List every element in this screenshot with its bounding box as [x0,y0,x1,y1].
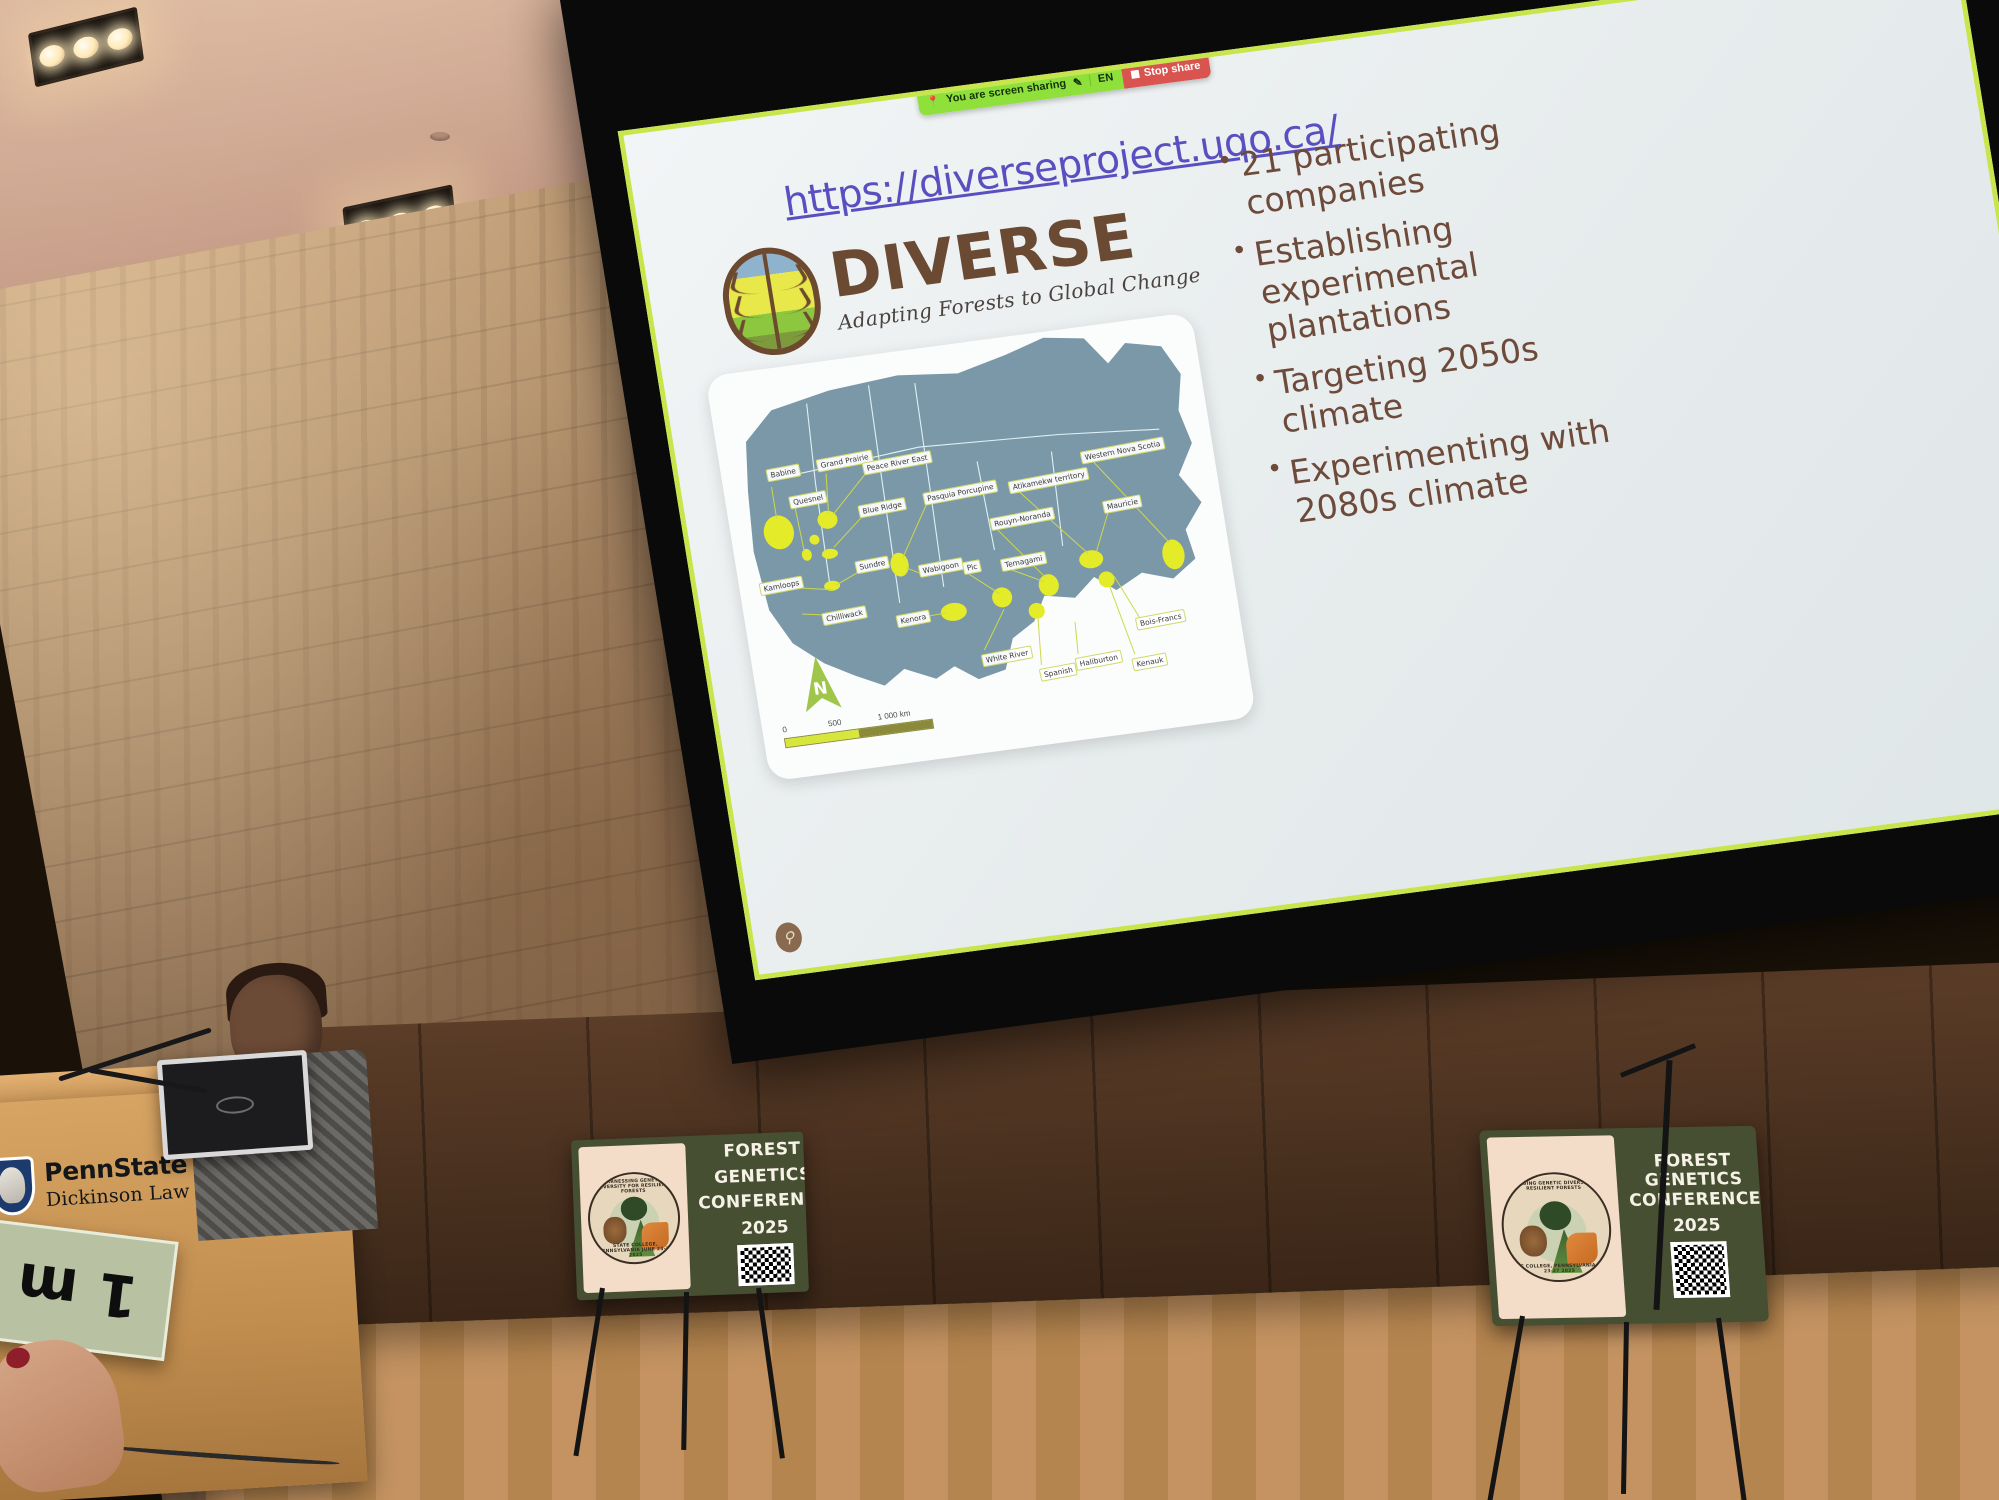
qr-code-icon[interactable] [1670,1242,1730,1299]
stop-share-label: Stop share [1143,60,1201,79]
conference-sign-right: HARNESSING GENETIC DIVERSITY FOR RESILIE… [1479,1126,1769,1326]
language-indicator[interactable]: EN [1088,71,1114,86]
qr-code-icon[interactable] [738,1243,796,1286]
conference-emblem-icon: HARNESSING GENETIC DIVERSITY FOR RESILIE… [1498,1172,1615,1283]
projected-slide-area: 📍 You are screen sharing ✎ EN Stop share… [618,0,1999,980]
dell-logo-icon [215,1095,254,1115]
time-warning-card: 1 m [0,1219,179,1361]
slide-bullet-list: 21 participating companiesEstablishing e… [1213,94,1694,548]
pencil-icon[interactable]: ✎ [1072,75,1083,89]
share-status-text: You are screen sharing [945,78,1067,106]
conference-title-line-1: FOREST [723,1140,801,1162]
presentation-slide: 📍 You are screen sharing ✎ EN Stop share… [623,0,1999,975]
nittany-lion-shield-icon [0,1156,37,1217]
conference-year: 2025 [741,1217,789,1239]
stop-share-button[interactable]: Stop share [1120,52,1211,89]
share-status-group: 📍 You are screen sharing ✎ EN [916,63,1124,116]
conference-sign-text: FOREST GENETICS CONFERENCE 2025 [692,1132,809,1296]
projection-screen: 📍 You are screen sharing ✎ EN Stop share… [558,0,1999,1064]
canada-site-map: BabineQuesnelGrand PrairiePeace River Ea… [705,312,1256,782]
conference-sign-text: FOREST GENETICS CONFERENCE 2025 [1620,1126,1769,1324]
emblem-top-text: HARNESSING GENETIC DIVERSITY FOR RESILIE… [1501,1180,1607,1192]
conference-emblem-icon: HARNESSING GENETIC DIVERSITY FOR RESILIE… [587,1171,682,1266]
light-bulb [38,42,66,69]
auditorium-scene: 📍 You are screen sharing ✎ EN Stop share… [0,0,1999,1500]
leaf-badge-icon [716,242,828,361]
time-warning-text: 1 m [13,1249,141,1331]
scale-tick-500: 500 [827,718,842,729]
conference-emblem-box: HARNESSING GENETIC DIVERSITY FOR RESILIE… [1486,1135,1626,1319]
smoke-detector-icon [430,132,450,141]
light-bulb [72,33,100,60]
conference-title-line-3: CONFERENCE [698,1190,809,1215]
svg-text:N: N [812,678,829,700]
stop-square-icon [1130,70,1139,79]
slide-corner-logo-icon: ⚲ [773,921,804,954]
light-bulb [106,25,134,52]
conference-emblem-box: HARNESSING GENETIC DIVERSITY FOR RESILIE… [578,1143,690,1293]
conference-sign-left: HARNESSING GENETIC DIVERSITY FOR RESILIE… [571,1132,809,1301]
map-graphic [705,312,1256,782]
conference-title-single: FOREST GENETICS CONFERENCE [1626,1150,1762,1211]
emblem-bottom-text: STATE COLLEGE, PENNSYLVANIA JUNE 23-27 2… [1506,1263,1612,1275]
emblem-bottom-text: STATE COLLEGE, PENNSYLVANIA JUNE 23-27 2… [591,1241,679,1259]
screen-share-bar: 📍 You are screen sharing ✎ EN Stop share [916,52,1211,117]
conference-title-line-2: GENETICS [714,1165,809,1188]
pin-icon[interactable]: 📍 [926,95,940,108]
podium-monitor [157,1050,314,1160]
conference-year: 2025 [1672,1216,1721,1237]
scale-tick-0: 0 [782,725,788,734]
